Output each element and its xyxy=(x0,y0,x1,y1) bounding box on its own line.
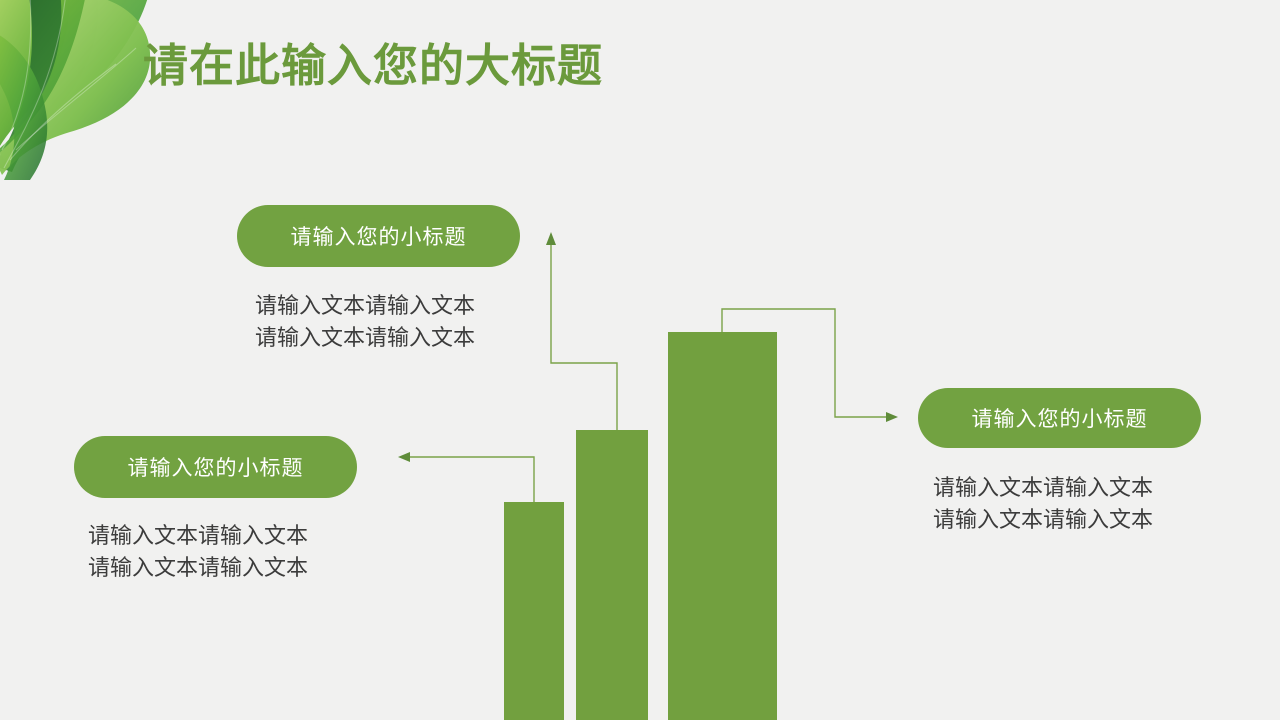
body-line: 请输入文本请输入文本 xyxy=(88,520,308,552)
section-pill-left-label: 请输入您的小标题 xyxy=(128,452,304,482)
section-pill-right[interactable]: 请输入您的小标题 xyxy=(918,388,1201,448)
section-pill-top[interactable]: 请输入您的小标题 xyxy=(237,205,520,267)
body-line: 请输入文本请输入文本 xyxy=(255,290,475,322)
chart-bar-3 xyxy=(668,332,777,720)
chart-bar-2 xyxy=(576,430,648,720)
arrow-left-icon xyxy=(398,452,410,462)
arrow-right-icon xyxy=(886,412,898,422)
body-line: 请输入文本请输入文本 xyxy=(933,504,1153,536)
body-line: 请输入文本请输入文本 xyxy=(88,552,308,584)
connector-path-top xyxy=(551,240,617,430)
chart-bar-1 xyxy=(504,502,564,720)
body-line: 请输入文本请输入文本 xyxy=(255,322,475,354)
section-pill-left[interactable]: 请输入您的小标题 xyxy=(74,436,357,498)
section-pill-right-label: 请输入您的小标题 xyxy=(972,403,1148,433)
section-body-left: 请输入文本请输入文本 请输入文本请输入文本 xyxy=(88,520,308,584)
page-title: 请在此输入您的大标题 xyxy=(143,39,603,93)
arrow-up-icon xyxy=(546,232,556,245)
body-line: 请输入文本请输入文本 xyxy=(933,472,1153,504)
leaf-cluster-icon xyxy=(0,0,200,190)
connector-path-left xyxy=(405,457,534,502)
slide-canvas: 请在此输入您的大标题 请输入您的小标题 请输入文本请输入文本 请输入文本请输入文… xyxy=(0,0,1280,720)
section-body-right: 请输入文本请输入文本 请输入文本请输入文本 xyxy=(933,472,1153,536)
section-body-top: 请输入文本请输入文本 请输入文本请输入文本 xyxy=(255,290,475,354)
section-pill-top-label: 请输入您的小标题 xyxy=(291,221,467,251)
